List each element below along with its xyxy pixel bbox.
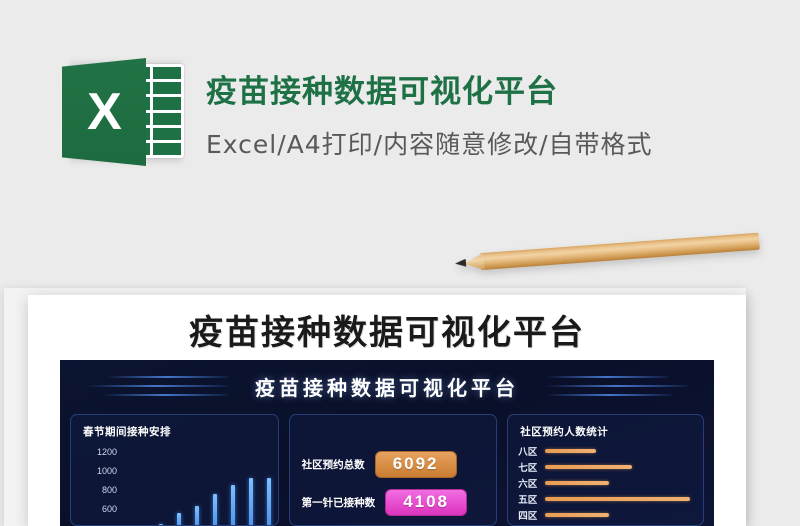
hbar-track: [545, 465, 698, 469]
page-title: 疫苗接种数据可视化平台: [206, 66, 653, 111]
y-tick-label: 800: [102, 485, 117, 495]
branding-content: X 疫苗接种数据可视化平台 Excel/A4打印/内容随意修改/自带格式: [62, 58, 653, 166]
hbar-row: 六区: [518, 477, 698, 488]
hbar-row: 五区: [518, 493, 698, 504]
panel-spring-festival-schedule: 春节期间接种安排 1200 1000 800 600: [70, 414, 279, 526]
hbar-label: 六区: [518, 476, 538, 490]
panel-title-right: 社区预约人数统计: [520, 424, 608, 439]
hbar-label: 五区: [518, 492, 538, 506]
excel-letter-x: X: [62, 58, 146, 166]
panel-title-left: 春节期间接种安排: [83, 424, 171, 439]
stat-value-badge: 4108: [385, 489, 467, 516]
hbar-track: [545, 481, 698, 485]
panel-reservation-stats: 社区预约总数6092第一针已接种数4108: [289, 414, 498, 526]
bar-chart-bar: [231, 485, 235, 526]
hbar-row: 八区: [518, 445, 698, 456]
dashboard: 疫苗接种数据可视化平台 春节期间接种安排 1200 1000 800 600: [60, 360, 714, 526]
excel-file-icon: X: [62, 58, 184, 166]
hbar-fill: [545, 449, 596, 453]
bar-chart-bar: [177, 513, 181, 526]
template-preview-sheet[interactable]: 疫苗接种数据可视化平台 疫苗接种数据可视化平台 春节期间接种安排 1200 10…: [28, 295, 746, 526]
pencil-lead: [455, 259, 467, 268]
stat-list: 社区预约总数6092第一针已接种数4108: [290, 441, 498, 526]
y-axis-labels: 1200 1000 800 600: [81, 445, 119, 526]
bar-chart-bar: [213, 494, 217, 526]
stat-row: 第一针已接种数4108: [302, 489, 490, 516]
y-tick-label: 600: [102, 504, 117, 514]
hbar-fill: [545, 465, 632, 469]
hbar-track: [545, 513, 698, 517]
bar-chart-horizontal: 八区七区六区五区四区: [518, 445, 698, 525]
hbar-label: 七区: [518, 460, 538, 474]
hbar-row: 七区: [518, 461, 698, 472]
hbar-fill: [545, 497, 690, 501]
bar-chart-bar: [195, 506, 199, 526]
hbar-row: 四区: [518, 509, 698, 520]
stat-label: 第一针已接种数: [302, 495, 376, 510]
hbar-track: [545, 449, 698, 453]
bar-chart-bar: [249, 478, 253, 526]
page-subtitle: Excel/A4打印/内容随意修改/自带格式: [206, 125, 653, 161]
stat-value-badge: 6092: [375, 451, 457, 478]
hbar-fill: [545, 513, 608, 517]
bar-chart-bar: [267, 478, 271, 526]
preview-title: 疫苗接种数据可视化平台: [28, 305, 746, 354]
branding-text: 疫苗接种数据可视化平台 Excel/A4打印/内容随意修改/自带格式: [206, 64, 653, 161]
dashboard-header: 疫苗接种数据可视化平台: [60, 360, 714, 414]
pencil-tip: [463, 253, 484, 271]
hbar-label: 四区: [518, 508, 538, 522]
dashboard-panels: 春节期间接种安排 1200 1000 800 600 社区预约总数6092第一针…: [60, 414, 714, 526]
stat-row: 社区预约总数6092: [302, 451, 490, 478]
panel-community-reservations: 社区预约人数统计 八区七区六区五区四区: [507, 414, 704, 526]
branding-banner: X 疫苗接种数据可视化平台 Excel/A4打印/内容随意修改/自带格式: [0, 0, 800, 270]
hbar-label: 八区: [518, 444, 538, 458]
decorative-lines-right: [532, 374, 692, 400]
y-tick-label: 1200: [97, 447, 117, 457]
hbar-fill: [545, 481, 608, 485]
bar-chart-vertical: 1200 1000 800 600: [81, 445, 273, 526]
hbar-track: [545, 497, 698, 501]
stat-label: 社区预约总数: [302, 457, 365, 472]
bar-chart-plot-area: [123, 449, 271, 526]
y-tick-label: 1000: [97, 466, 117, 476]
